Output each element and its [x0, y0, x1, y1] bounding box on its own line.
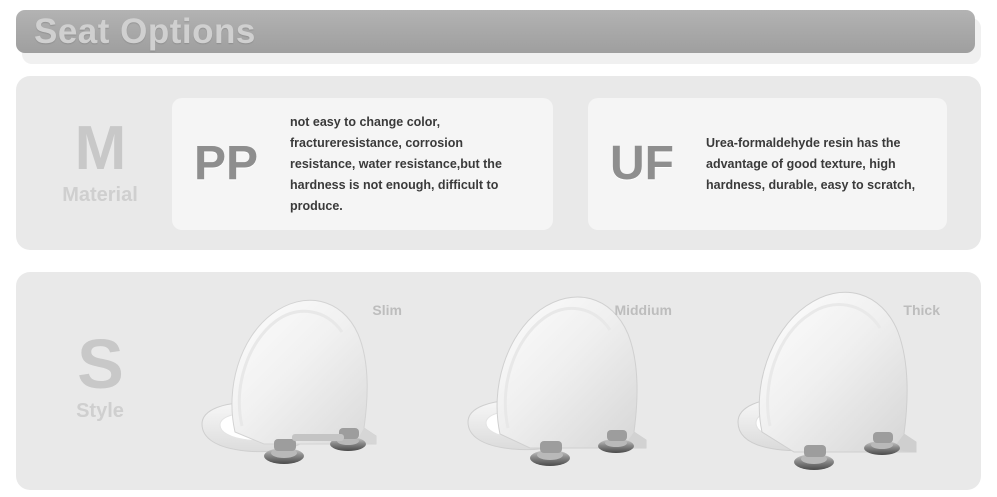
style-item-middium[interactable]: Middium	[450, 276, 680, 490]
style-item-label-slim: Slim	[372, 302, 402, 318]
page-title: Seat Options	[34, 10, 256, 53]
material-description-uf: Urea-formaldehyde resin has the advantag…	[706, 133, 934, 196]
style-item-label-thick: Thick	[903, 302, 940, 318]
material-description-pp: not easy to change color, fractureresist…	[290, 112, 542, 217]
style-section-label: Style	[20, 398, 180, 424]
material-section-label: Material	[20, 182, 180, 208]
style-item-label-middium: Middium	[614, 302, 672, 318]
style-item-slim[interactable]: Slim	[180, 276, 410, 490]
style-item-thick[interactable]: Thick	[718, 276, 948, 490]
material-section-heading: M Material	[20, 118, 180, 208]
title-bar: Seat Options	[16, 10, 975, 53]
material-abbr-pp: PP	[194, 140, 290, 188]
material-initial-letter: M	[20, 118, 180, 180]
style-section-heading: S Style	[20, 332, 180, 424]
material-card-uf[interactable]: UF Urea-formaldehyde resin has the advan…	[588, 98, 947, 230]
style-initial-letter: S	[20, 332, 180, 396]
seat-options-page: Seat Options M Material PP not easy to c…	[0, 0, 997, 497]
material-abbr-uf: UF	[610, 140, 706, 188]
material-card-pp[interactable]: PP not easy to change color, fractureres…	[172, 98, 553, 230]
